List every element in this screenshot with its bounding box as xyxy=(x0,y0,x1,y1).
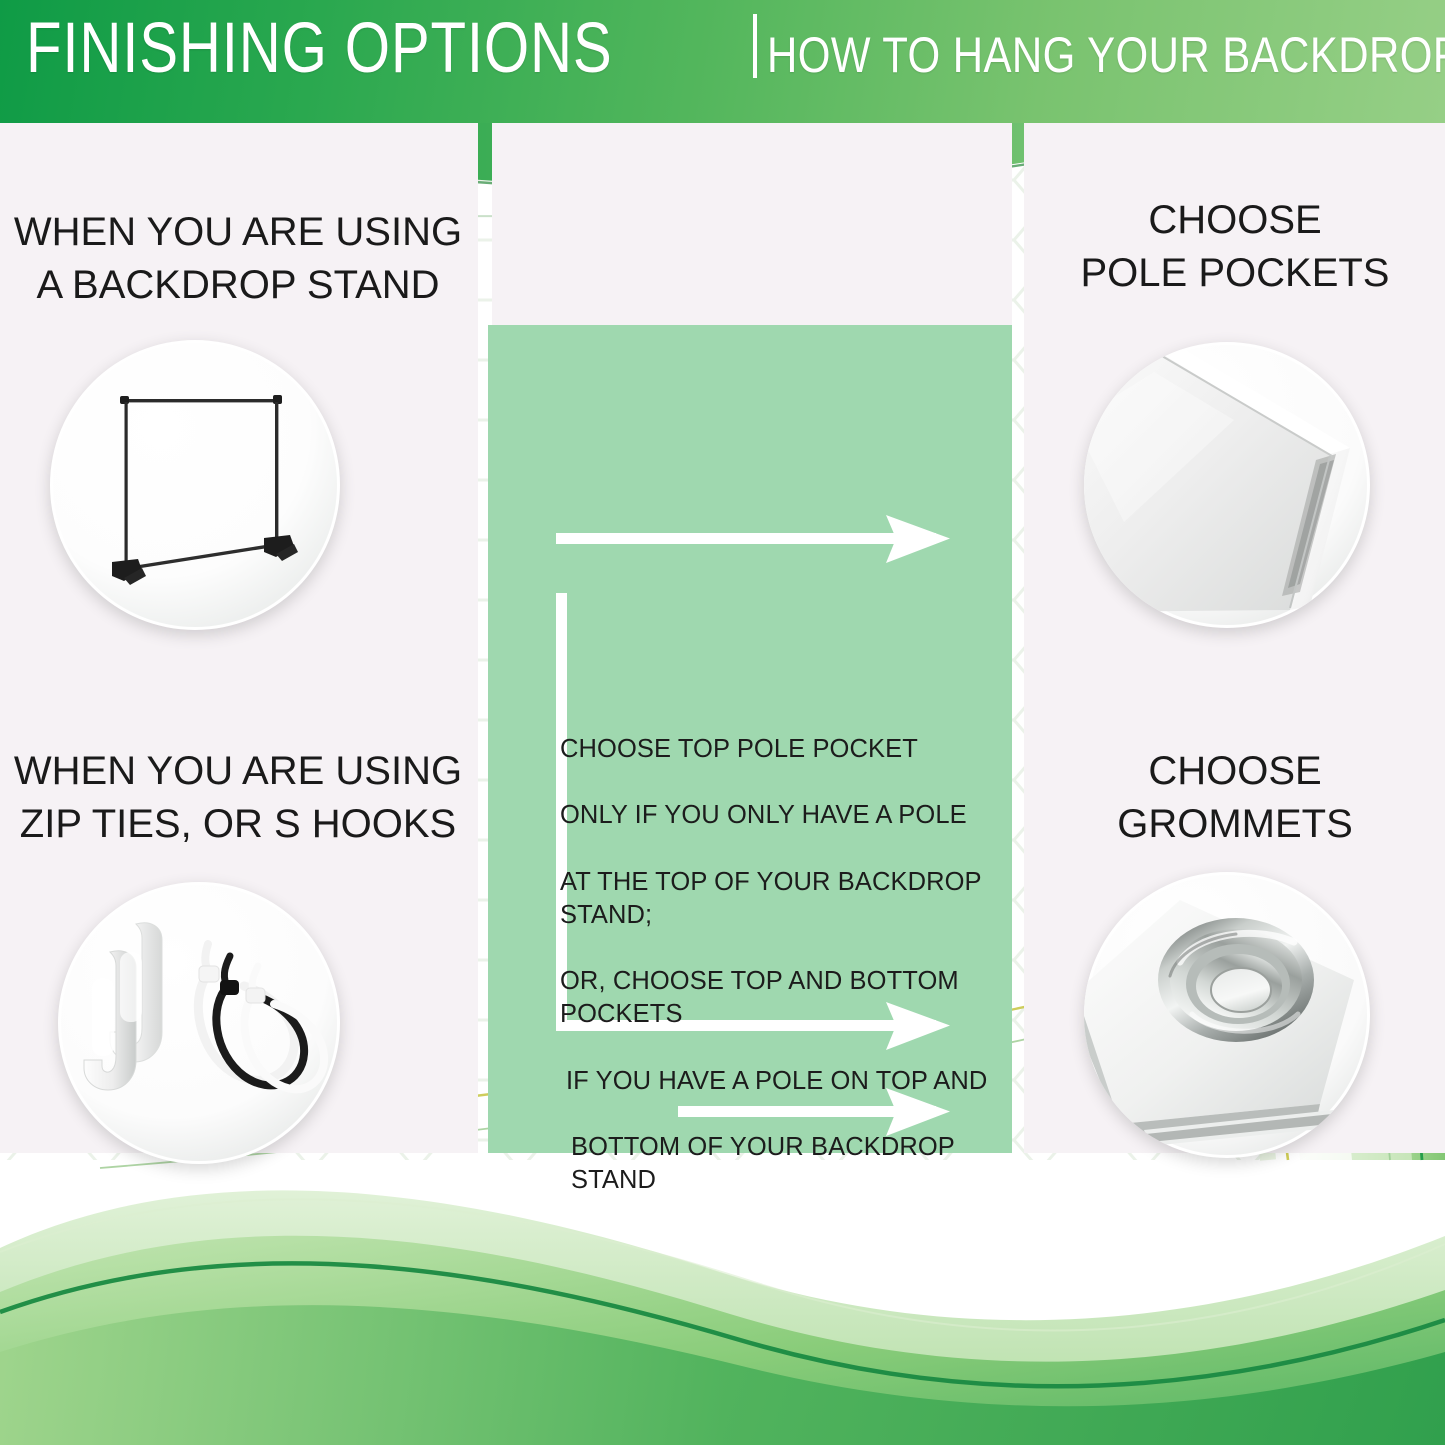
pole-pocket-illustration xyxy=(1084,342,1370,628)
pole-pocket-fabric-photo xyxy=(1084,342,1370,628)
instruction-line: AT THE TOP OF YOUR BACKDROP STAND; xyxy=(560,866,1006,932)
instruction-line: IF YOU HAVE A POLE ON TOP AND xyxy=(560,1065,1006,1098)
center-instruction-text: CHOOSE TOP POLE POCKET ONLY IF YOU ONLY … xyxy=(560,700,1006,1230)
grommet-illustration xyxy=(1084,872,1370,1158)
instruction-line: CHOOSE TOP POLE POCKET xyxy=(560,733,1006,766)
heading-grommets: CHOOSE GROMMETS xyxy=(1028,745,1442,851)
heading-pole-pockets: CHOOSE POLE POCKETS xyxy=(1028,194,1442,300)
infographic-canvas: FINISHING OPTIONS HOW TO HANG YOUR BACKD… xyxy=(0,0,1445,1445)
instruction-line: OR, CHOOSE TOP AND BOTTOM POCKETS xyxy=(560,965,1006,1031)
backdrop-stand-illustration xyxy=(50,340,340,630)
heading-backdrop-stand: WHEN YOU ARE USING A BACKDROP STAND xyxy=(4,206,472,312)
instruction-line: ONLY IF YOU ONLY HAVE A POLE xyxy=(560,799,1006,832)
header-title-sub: HOW TO HANG YOUR BACKDROP? xyxy=(767,30,1445,80)
arrow-to-pole-pockets xyxy=(556,515,950,563)
instruction-line: BOTTOM OF YOUR BACKDROP STAND xyxy=(560,1131,1006,1197)
zip-ties-hooks-illustration xyxy=(58,882,340,1164)
header-title-divider xyxy=(753,14,757,78)
grommet-fabric-photo xyxy=(1084,872,1370,1158)
heading-zip-ties-s-hooks: WHEN YOU ARE USING ZIP TIES, OR S HOOKS xyxy=(4,745,472,851)
header-title: FINISHING OPTIONS HOW TO HANG YOUR BACKD… xyxy=(26,8,1445,84)
backdrop-stand-photo xyxy=(50,340,340,630)
header-title-main: FINISHING OPTIONS xyxy=(26,13,612,84)
zip-ties-and-s-hooks-photo xyxy=(58,882,340,1164)
header-bar: FINISHING OPTIONS HOW TO HANG YOUR BACKD… xyxy=(0,0,1445,123)
